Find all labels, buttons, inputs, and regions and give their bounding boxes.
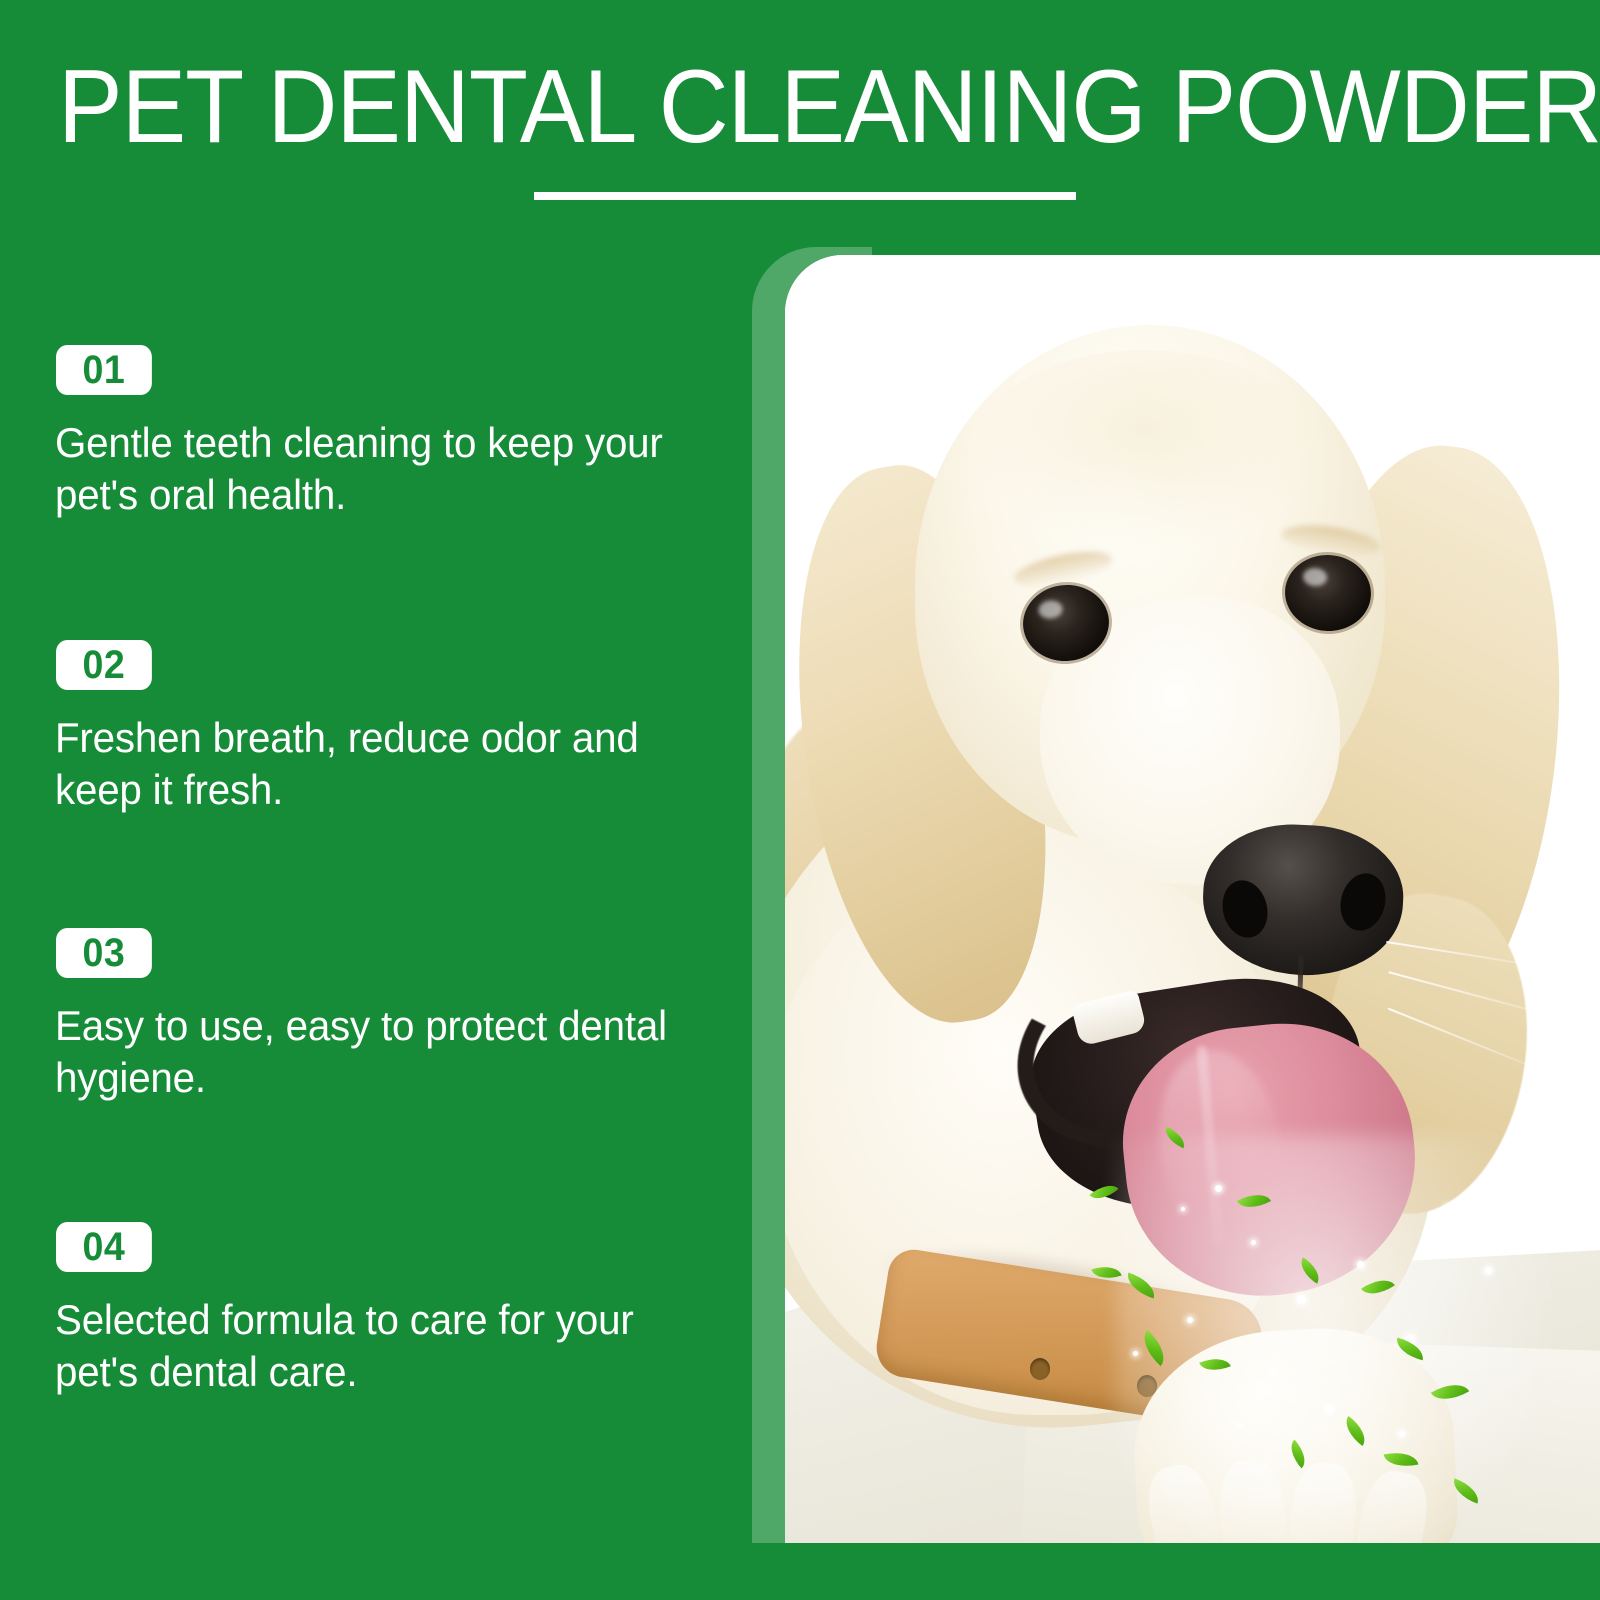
powder-sparkle bbox=[1357, 1261, 1364, 1268]
powder-sparkle bbox=[1187, 1317, 1193, 1323]
title-underline-divider bbox=[534, 192, 1076, 200]
powder-sparkle bbox=[1237, 1423, 1242, 1428]
powder-sparkle bbox=[1485, 1267, 1492, 1274]
powder-sparkle bbox=[1445, 1205, 1451, 1211]
powder-sparkle bbox=[1133, 1351, 1138, 1356]
feature-number-badge-04: 04 bbox=[56, 1222, 152, 1272]
feature-item-01: 01 Gentle teeth cleaning to keep your pe… bbox=[0, 345, 740, 521]
puppy-photo bbox=[785, 255, 1600, 1543]
collar-hole bbox=[1030, 1358, 1050, 1380]
product-photo-panel bbox=[785, 255, 1600, 1543]
feature-number-badge-03: 03 bbox=[56, 928, 152, 978]
feature-number-badge-01: 01 bbox=[56, 345, 152, 395]
powder-sparkle bbox=[1251, 1240, 1256, 1245]
feature-text-01: Gentle teeth cleaning to keep your pet's… bbox=[55, 417, 708, 521]
feature-text-02: Freshen breath, reduce odor and keep it … bbox=[55, 712, 708, 816]
powder-sparkle bbox=[1181, 1207, 1185, 1211]
puppy-forehead bbox=[975, 350, 1315, 550]
powder-sparkle bbox=[1215, 1185, 1222, 1192]
poster-root: PET DENTAL CLEANING POWDER 01 Gentle tee… bbox=[0, 0, 1600, 1600]
powder-sparkle bbox=[1297, 1295, 1306, 1304]
feature-item-04: 04 Selected formula to care for your pet… bbox=[0, 1222, 740, 1398]
powder-sparkle bbox=[1271, 1370, 1277, 1376]
feature-text-03: Easy to use, easy to protect dental hygi… bbox=[55, 1000, 708, 1104]
page-title: PET DENTAL CLEANING POWDER bbox=[58, 48, 1453, 166]
feature-number-badge-02: 02 bbox=[56, 640, 152, 690]
poster-header: PET DENTAL CLEANING POWDER bbox=[0, 0, 1600, 230]
feature-item-02: 02 Freshen breath, reduce odor and keep … bbox=[0, 640, 740, 816]
powder-sparkle bbox=[1325, 1405, 1333, 1413]
feature-item-03: 03 Easy to use, easy to protect dental h… bbox=[0, 928, 740, 1104]
powder-sparkle bbox=[1399, 1431, 1405, 1437]
feature-text-04: Selected formula to care for your pet's … bbox=[55, 1294, 708, 1398]
